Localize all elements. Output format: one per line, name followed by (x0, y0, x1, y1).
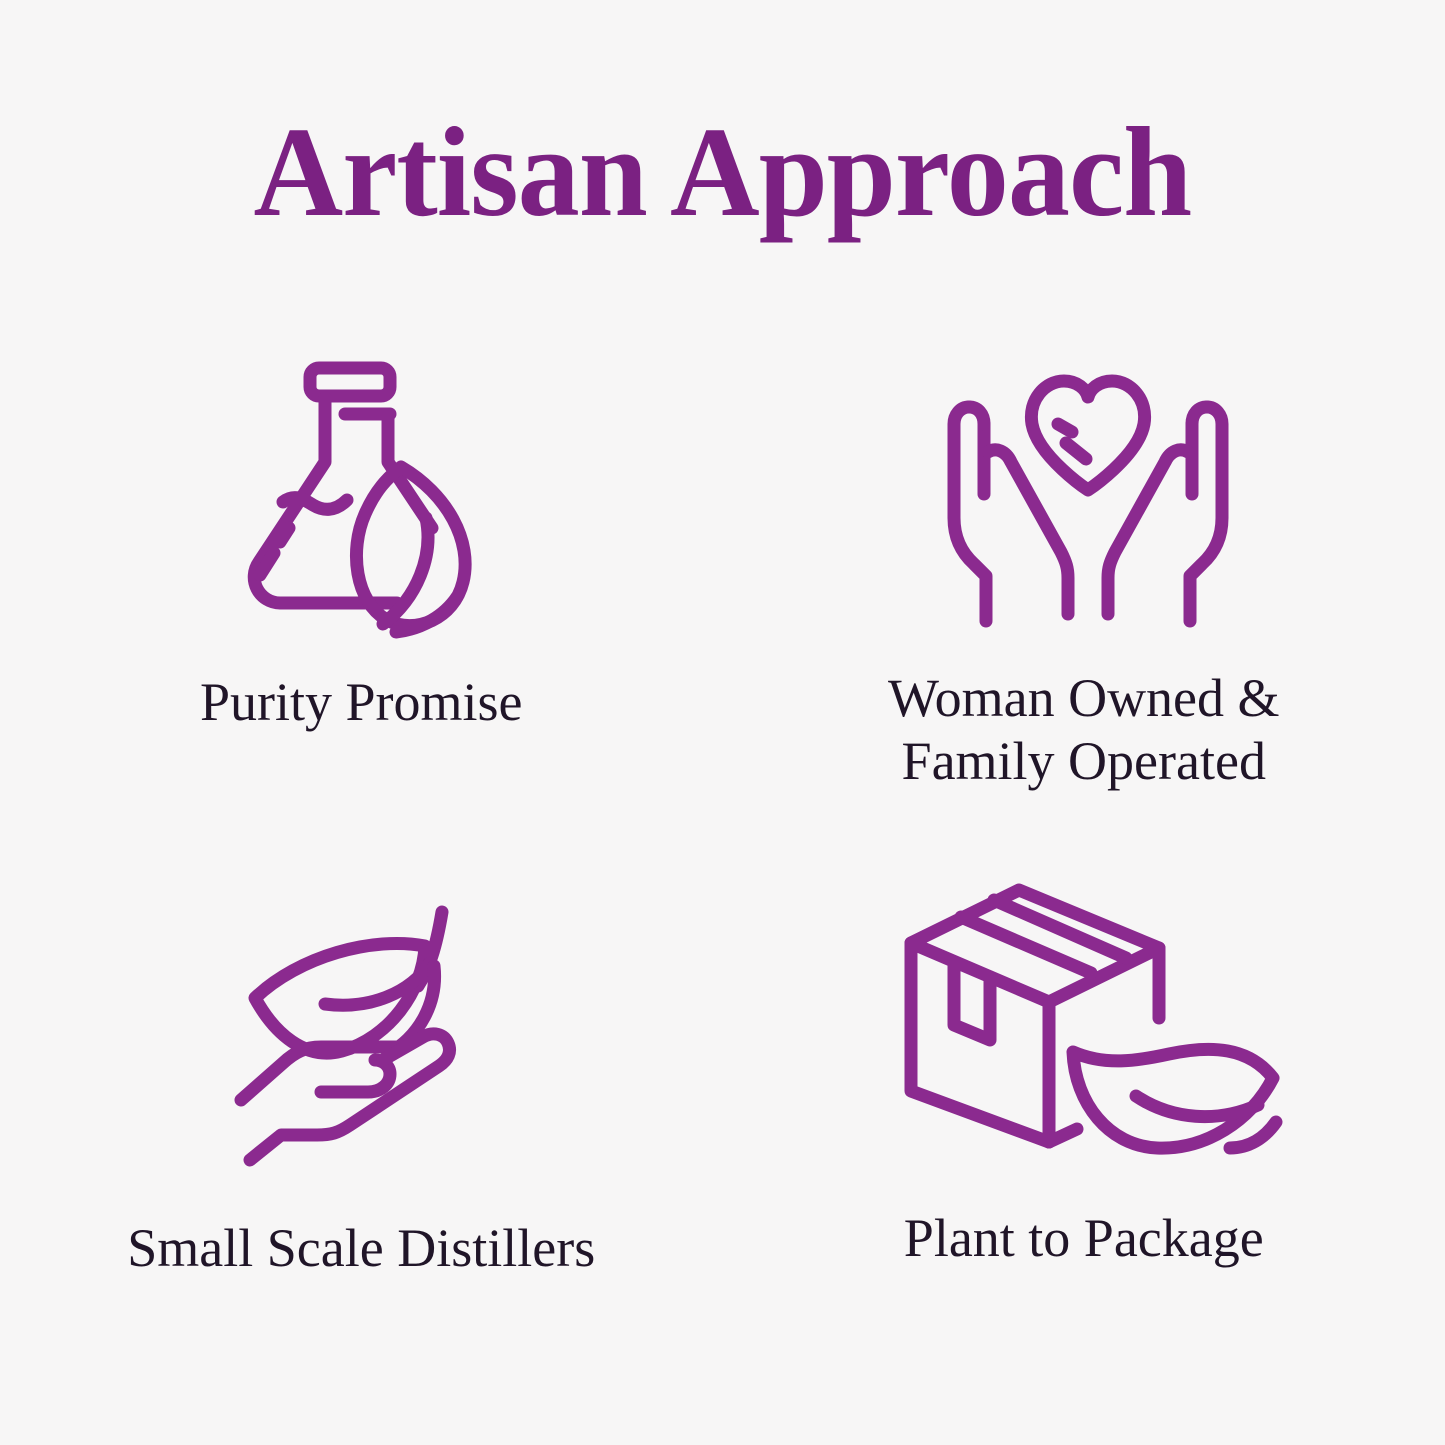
flask-leaf-icon (231, 345, 491, 645)
feature-item-woman-owned: Woman Owned & Family Operated (723, 345, 1445, 855)
box-leaf-icon (877, 855, 1291, 1165)
feature-item-purity-promise: Purity Promise (0, 345, 723, 855)
page-title: Artisan Approach (254, 108, 1192, 236)
hands-holding-heart-icon (930, 345, 1238, 645)
artisan-approach-graphic: Artisan Approach (0, 0, 1445, 1445)
feature-grid: Purity Promise (0, 345, 1445, 1365)
feature-label-plant-to-package: Plant to Package (904, 1207, 1264, 1270)
feature-label-small-scale-distillers: Small Scale Distillers (127, 1217, 595, 1280)
page-title-container: Artisan Approach (0, 108, 1445, 236)
feature-label-purity-promise: Purity Promise (200, 671, 523, 734)
feature-item-small-scale-distillers: Small Scale Distillers (0, 855, 723, 1365)
feature-item-plant-to-package: Plant to Package (723, 855, 1445, 1365)
hand-holding-leaf-icon (229, 855, 493, 1173)
feature-label-woman-owned: Woman Owned & Family Operated (888, 667, 1280, 792)
